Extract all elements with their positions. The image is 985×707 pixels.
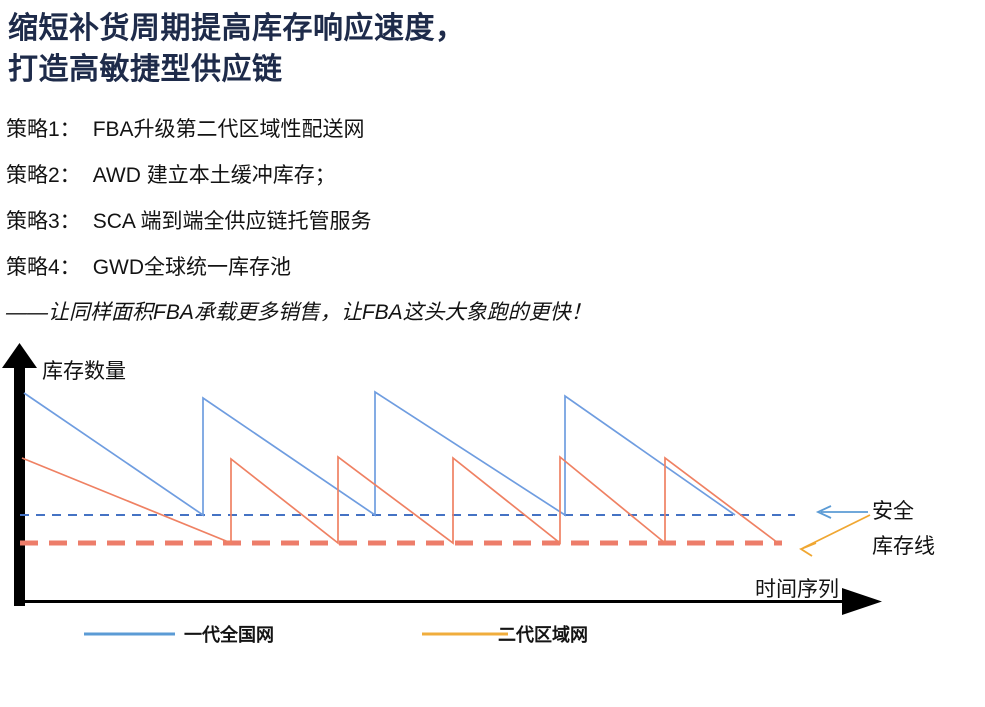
title-line-2: 打造高敏捷型供应链 <box>8 49 928 90</box>
strategy-4-label: 策略4： <box>6 251 81 281</box>
orange-callout-arrow-shaft <box>803 515 870 548</box>
safety-stock-callout-arrows <box>801 506 870 556</box>
safety-callout-line-1: 安全 <box>872 500 914 523</box>
inventory-sawtooth-chart: 库存数量 时间序列 安全 库存线 一代全国网 二代区域网 <box>0 336 985 666</box>
strategy-item-1: 策略1： FBA升级第二代区域性配送网 <box>6 105 866 151</box>
y-axis-label: 库存数量 <box>42 360 126 383</box>
strategy-2-label: 策略2： <box>6 159 81 189</box>
strategy-list: 策略1： FBA升级第二代区域性配送网 策略2： AWD 建立本土缓冲库存； 策… <box>6 105 866 289</box>
strategy-1-label: 策略1： <box>6 113 81 143</box>
strategy-item-3: 策略3： SCA 端到端全供应链托管服务 <box>6 197 866 243</box>
legend-label-second-generation: 二代区域网 <box>498 624 588 645</box>
safety-callout-line-2: 库存线 <box>872 535 935 558</box>
x-axis <box>20 588 882 615</box>
x-axis-label: 时间序列 <box>755 578 839 601</box>
legend-label-first-generation: 一代全国网 <box>184 624 274 645</box>
strategy-1-text: FBA升级第二代区域性配送网 <box>93 113 365 143</box>
strategy-3-text: SCA 端到端全供应链托管服务 <box>93 205 372 235</box>
strategy-item-2: 策略2： AWD 建立本土缓冲库存； <box>6 151 866 197</box>
legend-item-second-generation: 二代区域网 <box>422 624 588 645</box>
series-line-first-generation <box>24 392 735 515</box>
strategy-4-text: GWD全球统一库存池 <box>93 251 291 281</box>
page-title: 缩短补货周期提高库存响应速度， 打造高敏捷型供应链 <box>8 8 928 90</box>
title-line-1: 缩短补货周期提高库存响应速度， <box>8 8 928 49</box>
legend-item-first-generation: 一代全国网 <box>84 624 274 645</box>
strategy-item-4: 策略4： GWD全球统一库存池 <box>6 243 866 289</box>
y-axis <box>2 343 37 606</box>
strategy-3-label: 策略3： <box>6 205 81 235</box>
chart-legend: 一代全国网 二代区域网 <box>84 624 588 645</box>
tagline-text: ——让同样面积FBA承载更多销售，让FBA这头大象跑的更快！ <box>6 296 592 326</box>
strategy-2-text: AWD 建立本土缓冲库存； <box>93 159 336 189</box>
